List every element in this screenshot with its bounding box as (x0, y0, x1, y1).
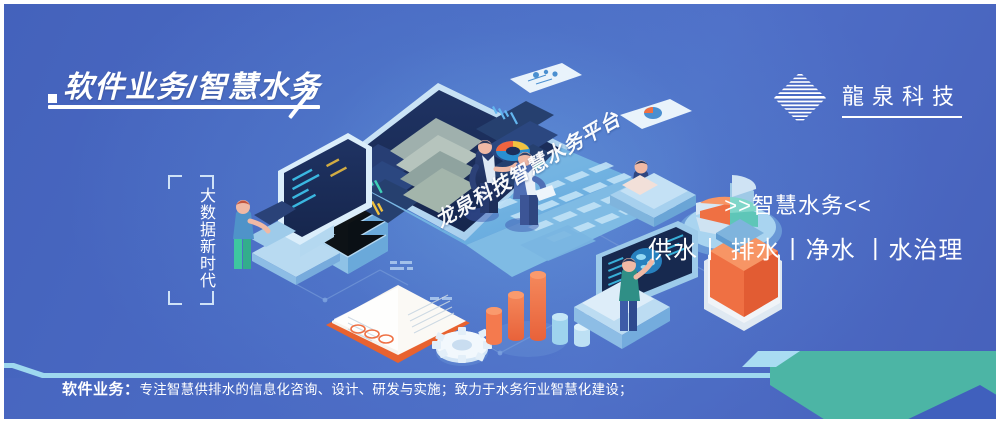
speech-bubble (510, 63, 582, 93)
bracket-bottom-right (200, 291, 214, 305)
service-highlight-items: 供水丨 排水丨净水 丨水治理 (648, 230, 948, 265)
bracket-bottom-left (168, 291, 182, 305)
vertical-tagline-text: 大数据新时代 (168, 187, 214, 289)
title-underline (48, 105, 320, 109)
bottom-bar-text: 软件业务：专注智慧供排水的信息化咨询、设计、研发与实施；致力于水务行业智慧化建设… (62, 378, 633, 399)
service-highlight-title: >>智慧水务<< (648, 188, 948, 220)
brand-logo: 龍泉科技 (772, 70, 962, 126)
bottom-bar-lead: 软件业务： (62, 381, 140, 398)
page-title: ■软件业务/智慧水务 (48, 62, 320, 106)
brand-name: 龍泉科技 (842, 79, 962, 118)
bottom-bar-body: 专注智慧供排水的信息化咨询、设计、研发与实施；致力于水务行业智慧化建设； (140, 382, 633, 397)
banner-root: 龙泉科技智慧水务平台 ■软件业务/智慧水务 大数据新时代 >>智慧水务<< 供水… (0, 0, 1000, 423)
bottom-bar-accent-line (0, 363, 770, 378)
service-highlight: >>智慧水务<< 供水丨 排水丨净水 丨水治理 (648, 188, 948, 265)
diamond-logo-icon (772, 70, 828, 126)
title-text: 软件业务/智慧水务 (63, 71, 320, 104)
title-bullet-icon: ■ (48, 94, 57, 103)
vertical-tagline: 大数据新时代 (168, 175, 214, 305)
